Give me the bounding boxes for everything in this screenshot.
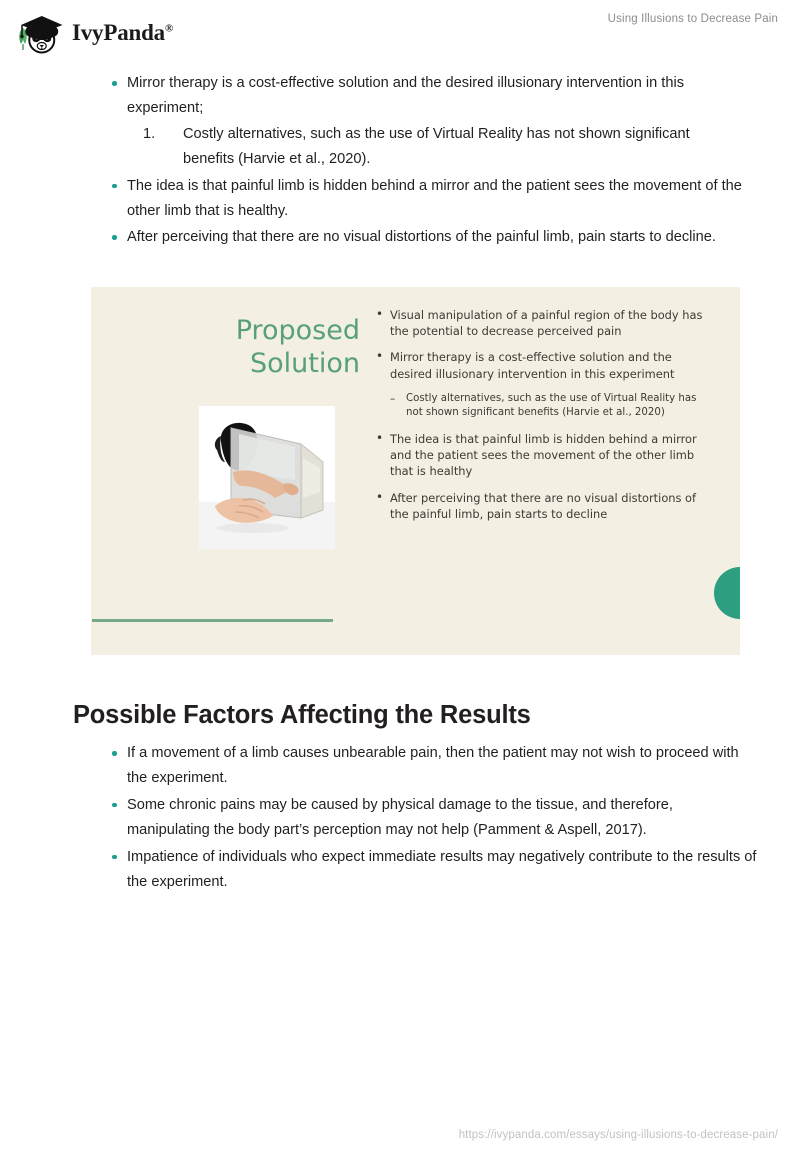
- list-item-number: 1.: [143, 122, 155, 147]
- slide-accent-circle: [714, 567, 740, 619]
- bottom-bullet-list: If a movement of a limb causes unbearabl…: [81, 741, 800, 895]
- brand-name-text: IvyPanda: [72, 20, 165, 45]
- slide-title-line-2: Solution: [250, 348, 360, 379]
- list-item: Some chronic pains may be caused by phys…: [81, 793, 757, 844]
- list-item: Impatience of individuals who expect imm…: [81, 845, 757, 896]
- slide-bullet: After perceiving that there are no visua…: [376, 490, 706, 522]
- top-bullet-list: Mirror therapy is a cost-effective solut…: [81, 71, 800, 251]
- bullet-text: After perceiving that there are no visua…: [127, 229, 716, 245]
- source-url[interactable]: https://ivypanda.com/essays/using-illusi…: [459, 1129, 778, 1141]
- slide-bullet: The idea is that painful limb is hidden …: [376, 431, 706, 480]
- sub-item-text: Costly alternatives, such as the use of …: [183, 126, 690, 167]
- bullet-text: The idea is that painful limb is hidden …: [127, 178, 742, 219]
- brand-name: IvyPanda®: [72, 20, 173, 46]
- top-bullet-block: Mirror therapy is a cost-effective solut…: [81, 71, 800, 251]
- list-item: Mirror therapy is a cost-effective solut…: [81, 71, 757, 173]
- brand[interactable]: IvyPanda®: [14, 10, 173, 56]
- registered-mark-icon: ®: [165, 22, 173, 34]
- section-heading: Possible Factors Affecting the Results: [73, 701, 531, 730]
- slide-right-column: Visual manipulation of a painful region …: [376, 307, 706, 532]
- document-body: Mirror therapy is a cost-effective solut…: [0, 62, 800, 252]
- mirror-box-therapy-photo-icon: [199, 406, 335, 549]
- panda-graduate-logo-icon: [14, 10, 66, 56]
- list-item: If a movement of a limb causes unbearabl…: [81, 741, 757, 792]
- slide-divider-rule: [92, 619, 333, 622]
- numbered-sub-list: 1. Costly alternatives, such as the use …: [127, 122, 757, 173]
- slide-title: Proposed Solution: [110, 314, 360, 380]
- presentation-slide-figure: Proposed Solution: [91, 287, 740, 655]
- list-item: After perceiving that there are no visua…: [81, 225, 757, 250]
- list-item: The idea is that painful limb is hidden …: [81, 174, 757, 225]
- page-footer: https://ivypanda.com/essays/using-illusi…: [0, 1120, 800, 1160]
- slide-title-line-1: Proposed: [236, 315, 360, 346]
- slide-sub-bullet: Costly alternatives, such as the use of …: [376, 392, 706, 421]
- bullet-text: Mirror therapy is a cost-effective solut…: [127, 75, 684, 116]
- list-item: 1. Costly alternatives, such as the use …: [127, 122, 743, 173]
- slide-bullet: Mirror therapy is a cost-effective solut…: [376, 349, 706, 381]
- page-header: IvyPanda® Using Illusions to Decrease Pa…: [0, 0, 800, 62]
- running-title: Using Illusions to Decrease Pain: [608, 13, 778, 25]
- slide-left-column: Proposed Solution: [91, 287, 376, 655]
- bottom-bullet-block: If a movement of a limb causes unbearabl…: [0, 741, 800, 896]
- slide-bullet: Visual manipulation of a painful region …: [376, 307, 706, 339]
